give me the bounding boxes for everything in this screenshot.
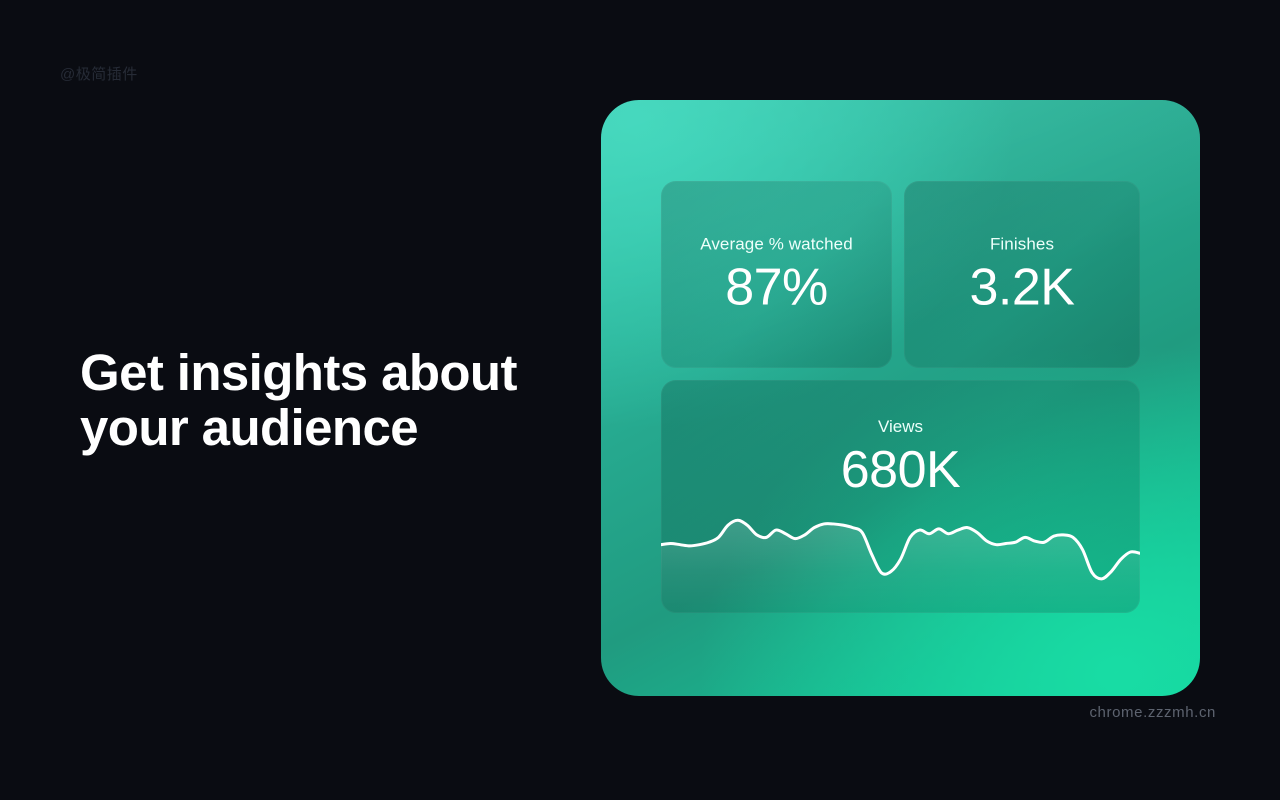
metric-card-content: Average % watched 87% [661, 233, 892, 316]
watermark-bottom-right: chrome.zzzmh.cn [1089, 704, 1216, 721]
metric-label-average-watched: Average % watched [673, 233, 880, 255]
metric-value-average-watched: 87% [673, 258, 880, 316]
metric-card-content: Finishes 3.2K [904, 233, 1140, 316]
views-sparkline-chart [661, 491, 1140, 613]
slide-canvas: @极简插件 Get insights about your audience A… [0, 0, 1280, 800]
metrics-row: Average % watched 87% Finishes 3.2K [661, 181, 1140, 368]
metric-value-finishes: 3.2K [916, 258, 1128, 316]
watermark-top-left: @极简插件 [60, 63, 138, 84]
views-card-content: Views 680K [661, 416, 1140, 500]
metric-label-views: Views [661, 416, 1140, 438]
metric-card-finishes[interactable]: Finishes 3.2K [904, 181, 1140, 368]
analytics-panel: Average % watched 87% Finishes 3.2K View… [601, 100, 1200, 696]
metric-card-views[interactable]: Views 680K [661, 380, 1140, 613]
metric-card-average-watched[interactable]: Average % watched 87% [661, 181, 892, 368]
page-title: Get insights about your audience [80, 345, 600, 455]
headline-line-1: Get insights about [80, 345, 600, 400]
headline-line-2: your audience [80, 400, 600, 455]
metric-label-finishes: Finishes [916, 233, 1128, 255]
analytics-panel-content: Average % watched 87% Finishes 3.2K View… [661, 181, 1140, 613]
